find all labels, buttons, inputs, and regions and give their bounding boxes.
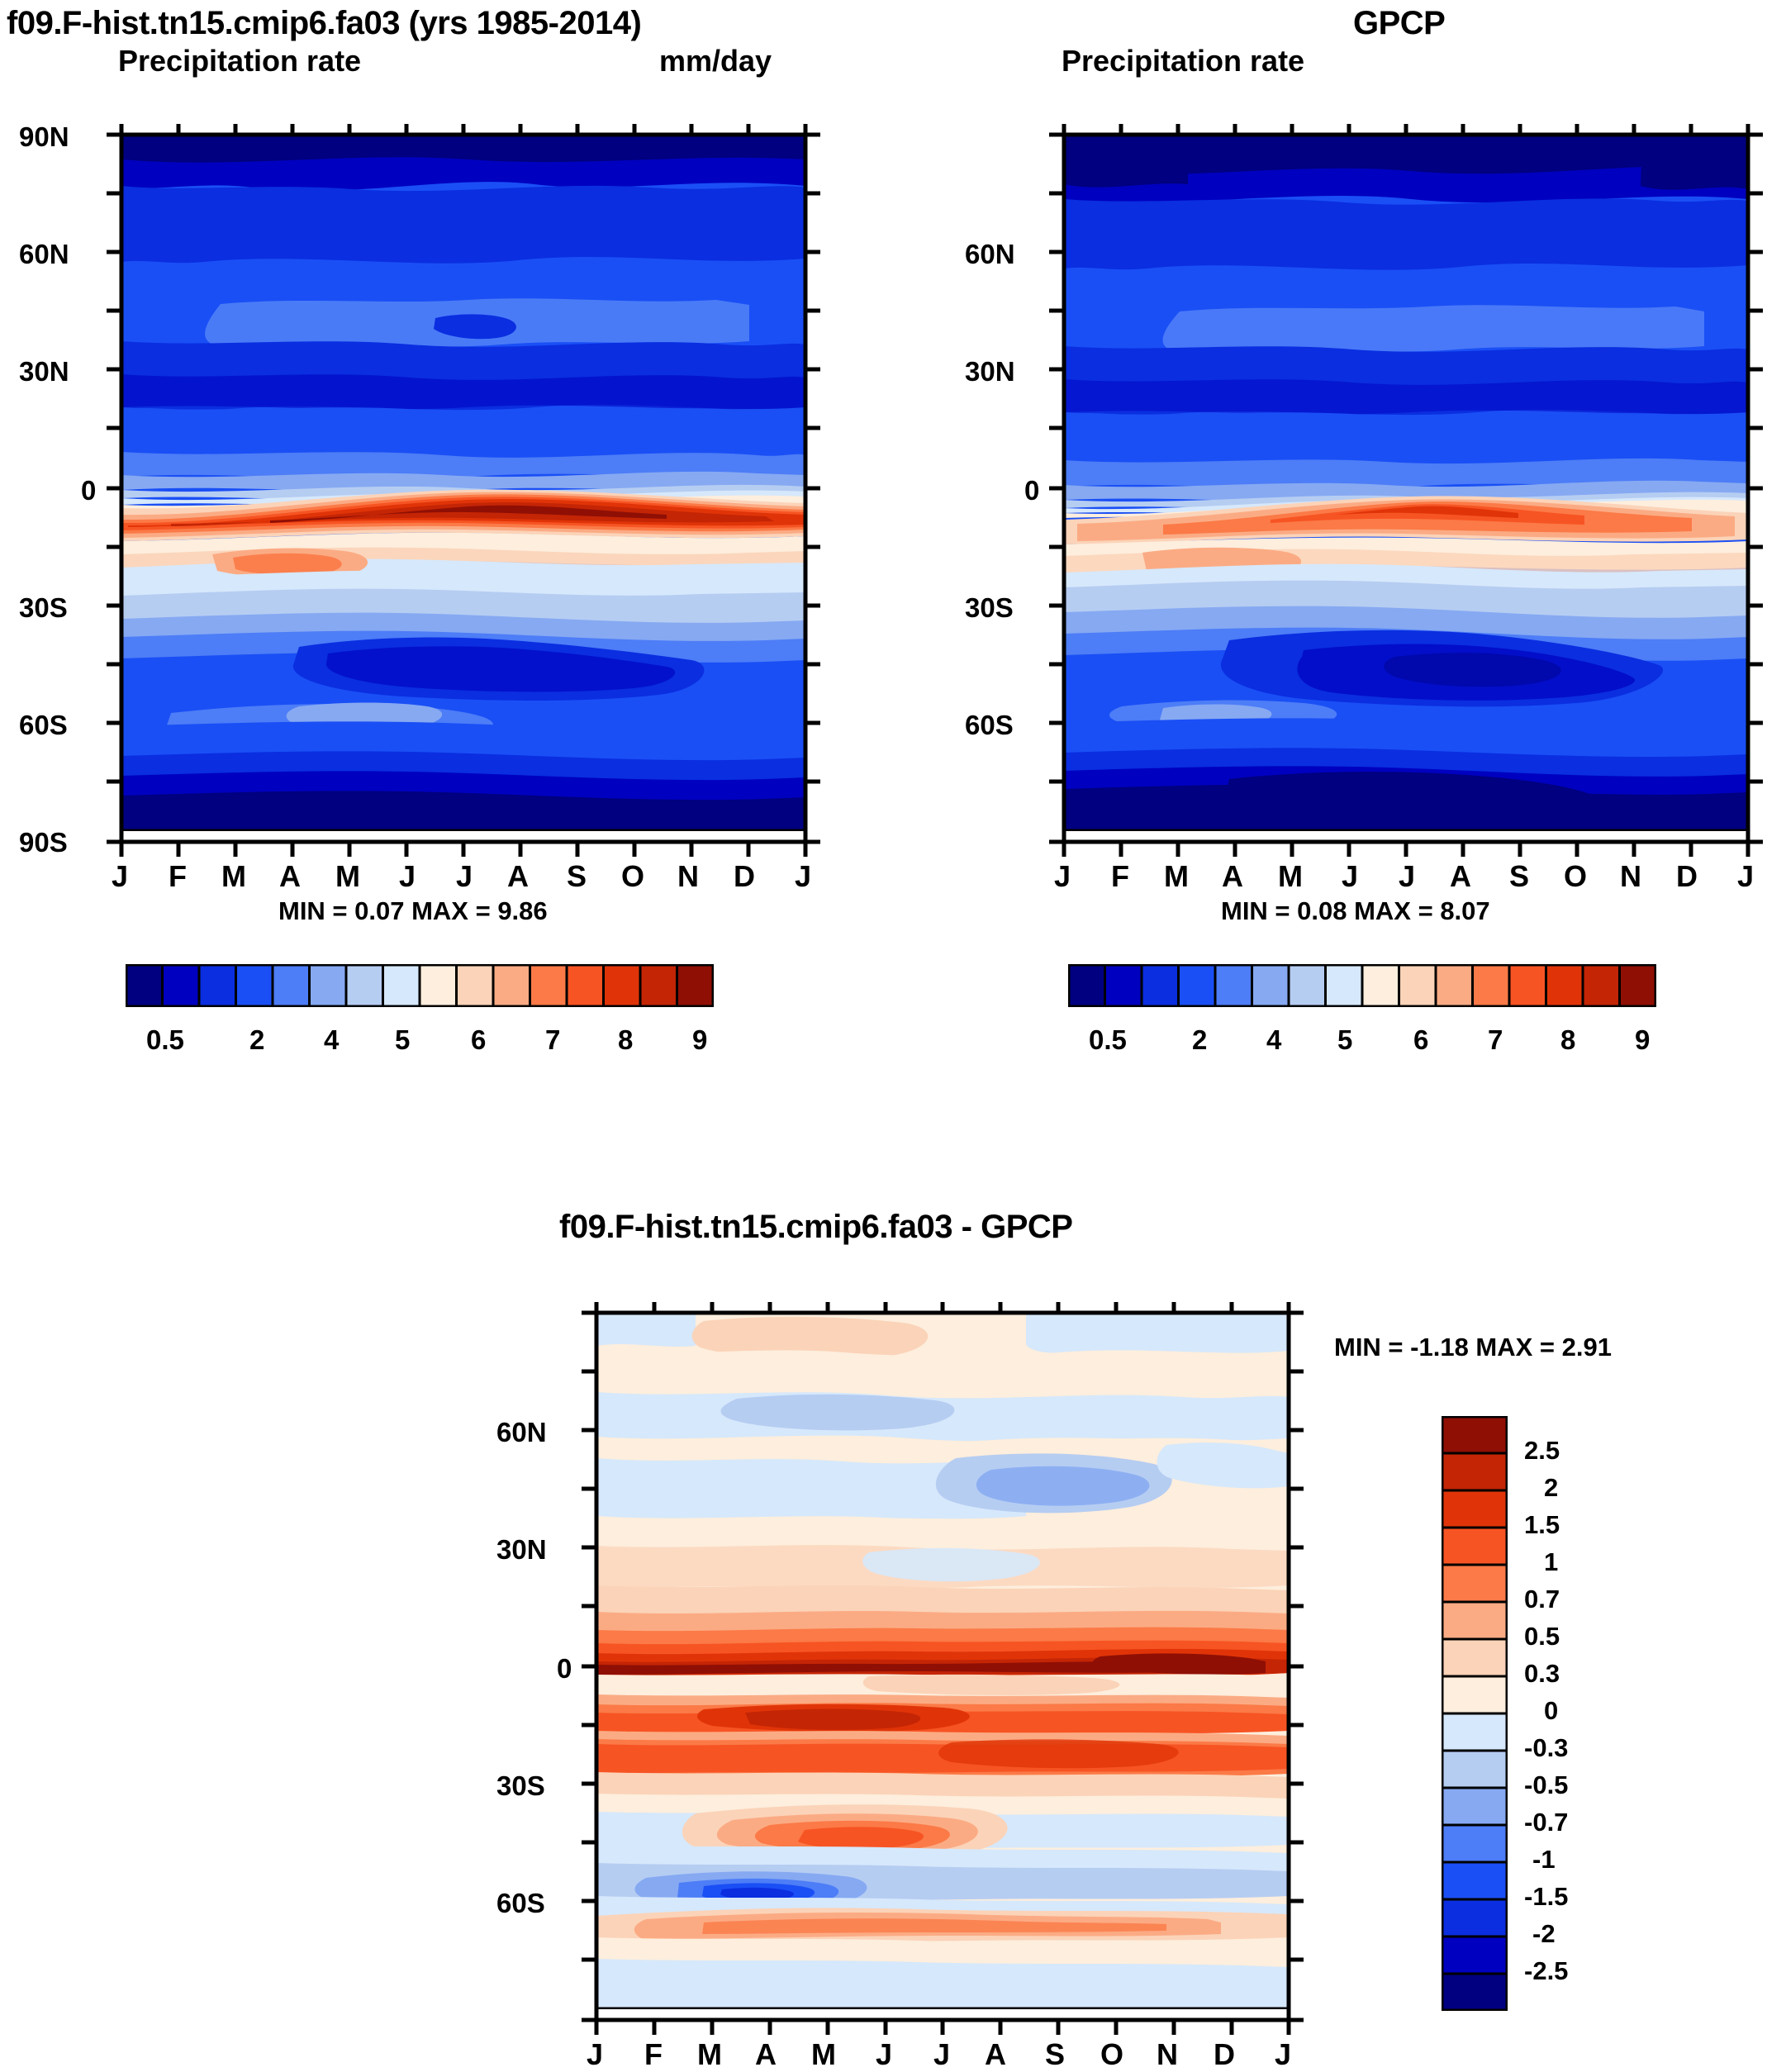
left-xtick-11: D bbox=[734, 859, 755, 894]
colorbar-cell bbox=[1362, 964, 1399, 1007]
left-xtick-0: J bbox=[112, 859, 128, 894]
left-xtick-1: F bbox=[169, 859, 187, 894]
diff-xtick-6: J bbox=[933, 2037, 950, 2072]
diff-cb-label-8: -0.3 bbox=[1524, 1733, 1568, 1763]
right-ytick-60n: 60N bbox=[965, 239, 1015, 270]
diff-panel-title: f09.F-hist.tn15.cmip6.fa03 - GPCP bbox=[559, 1209, 1072, 1246]
right-xtick-2: M bbox=[1164, 859, 1189, 894]
diff-xtick-10: N bbox=[1157, 2037, 1178, 2072]
colorbar-cell bbox=[1179, 964, 1216, 1007]
colorbar-cell bbox=[457, 964, 494, 1007]
diff-xtick-12: J bbox=[1275, 2037, 1291, 2072]
left-xtick-6: J bbox=[456, 859, 473, 894]
diff-xtick-2: M bbox=[697, 2037, 722, 2072]
right-cb-label-7: 9 bbox=[1635, 1024, 1650, 1056]
left-panel-axes bbox=[83, 124, 851, 859]
right-xtick-7: A bbox=[1450, 859, 1471, 894]
colorbar-cell bbox=[1509, 964, 1546, 1007]
colorbar-cell bbox=[126, 964, 163, 1007]
right-xtick-6: J bbox=[1399, 859, 1415, 894]
right-xtick-0: J bbox=[1054, 859, 1071, 894]
left-xtick-2: M bbox=[221, 859, 246, 894]
left-xtick-5: J bbox=[399, 859, 416, 894]
colorbar-cell bbox=[163, 964, 200, 1007]
colorbar-cell bbox=[1068, 964, 1105, 1007]
colorbar-cell bbox=[1620, 964, 1657, 1007]
right-panel-minmax: MIN = 0.08 MAX = 8.07 bbox=[1221, 896, 1490, 926]
diff-cb-label-3: 1 bbox=[1544, 1547, 1558, 1577]
colorbar-cell bbox=[1289, 964, 1326, 1007]
right-cb-label-6: 8 bbox=[1560, 1024, 1575, 1056]
left-ytick-30s: 30S bbox=[19, 592, 68, 624]
colorbar-cell bbox=[1442, 1416, 1508, 1453]
colorbar-cell bbox=[1442, 1751, 1508, 1788]
left-panel-title: f09.F-hist.tn15.cmip6.fa03 (yrs 1985-201… bbox=[7, 5, 641, 42]
colorbar-cell bbox=[1442, 1453, 1508, 1490]
left-cb-label-7: 9 bbox=[692, 1024, 707, 1056]
colorbar-cell bbox=[530, 964, 568, 1007]
left-colorbar-svg bbox=[126, 964, 714, 1007]
diff-ytick-30s: 30S bbox=[496, 1770, 545, 1802]
colorbar-cell bbox=[1583, 964, 1620, 1007]
colorbar-cell bbox=[1399, 964, 1437, 1007]
colorbar-cell bbox=[1442, 1565, 1508, 1602]
right-xtick-10: N bbox=[1620, 859, 1641, 894]
right-ytick-60s: 60S bbox=[965, 710, 1014, 741]
diff-xtick-1: F bbox=[644, 2037, 663, 2072]
diff-colorbar[interactable] bbox=[1442, 1416, 1508, 2011]
diff-xtick-9: O bbox=[1100, 2037, 1123, 2072]
colorbar-cell bbox=[199, 964, 236, 1007]
right-panel-subtitle: Precipitation rate bbox=[1062, 44, 1304, 78]
colorbar-cell bbox=[493, 964, 530, 1007]
left-cb-label-0: 0.5 bbox=[146, 1024, 184, 1056]
diff-cb-label-13: -2 bbox=[1532, 1919, 1556, 1949]
left-ytick-90s: 90S bbox=[19, 827, 68, 858]
left-ytick-30n: 30N bbox=[19, 356, 69, 387]
colorbar-cell bbox=[236, 964, 273, 1007]
colorbar-cell bbox=[1442, 1862, 1508, 1899]
diff-cb-label-6: 0.3 bbox=[1524, 1659, 1560, 1689]
right-cb-label-0: 0.5 bbox=[1089, 1024, 1127, 1056]
diff-cb-label-9: -0.5 bbox=[1524, 1770, 1568, 1800]
right-ytick-0: 0 bbox=[1024, 475, 1039, 506]
right-cb-label-4: 6 bbox=[1413, 1024, 1428, 1056]
colorbar-cell bbox=[1442, 1676, 1508, 1713]
colorbar-cell bbox=[1442, 1788, 1508, 1825]
colorbar-cell bbox=[1436, 964, 1473, 1007]
right-ytick-30n: 30N bbox=[965, 356, 1015, 387]
left-cb-label-1: 2 bbox=[249, 1024, 264, 1056]
left-ytick-0: 0 bbox=[81, 475, 96, 506]
left-cb-label-6: 8 bbox=[618, 1024, 633, 1056]
left-panel-units: mm/day bbox=[659, 44, 772, 78]
right-xtick-8: S bbox=[1509, 859, 1529, 894]
diff-ytick-0: 0 bbox=[557, 1653, 572, 1685]
colorbar-cell bbox=[1442, 1602, 1508, 1639]
diff-cb-label-10: -0.7 bbox=[1524, 1808, 1568, 1837]
right-colorbar[interactable] bbox=[1068, 964, 1656, 1007]
diff-xtick-5: J bbox=[876, 2037, 892, 2072]
colorbar-cell bbox=[640, 964, 677, 1007]
right-cb-label-5: 7 bbox=[1488, 1024, 1503, 1056]
left-cb-label-3: 5 bbox=[395, 1024, 410, 1056]
diff-cb-label-0: 2.5 bbox=[1524, 1436, 1560, 1466]
diff-colorbar-svg bbox=[1442, 1416, 1508, 2011]
colorbar-cell bbox=[346, 964, 383, 1007]
diff-xtick-11: D bbox=[1214, 2037, 1235, 2072]
colorbar-cell bbox=[1252, 964, 1290, 1007]
diff-ytick-30n: 30N bbox=[496, 1534, 547, 1566]
right-xtick-5: J bbox=[1342, 859, 1358, 894]
right-xtick-11: D bbox=[1676, 859, 1698, 894]
left-ytick-90n: 90N bbox=[19, 121, 69, 153]
colorbar-cell bbox=[1105, 964, 1142, 1007]
left-panel-minmax: MIN = 0.07 MAX = 9.86 bbox=[278, 896, 548, 926]
right-xtick-1: F bbox=[1111, 859, 1129, 894]
left-cb-label-4: 6 bbox=[471, 1024, 486, 1056]
diff-xtick-4: M bbox=[811, 2037, 836, 2072]
right-panel-axes bbox=[1025, 124, 1767, 859]
diff-cb-label-11: -1 bbox=[1532, 1845, 1556, 1875]
colorbar-cell bbox=[383, 964, 420, 1007]
left-colorbar[interactable] bbox=[126, 964, 714, 1007]
colorbar-cell bbox=[1473, 964, 1510, 1007]
right-ytick-30s: 30S bbox=[965, 592, 1014, 624]
left-xtick-3: A bbox=[279, 859, 301, 894]
colorbar-cell bbox=[1442, 1937, 1508, 1974]
right-cb-label-2: 4 bbox=[1266, 1024, 1281, 1056]
colorbar-cell bbox=[1326, 964, 1363, 1007]
left-ytick-60n: 60N bbox=[19, 239, 69, 270]
colorbar-cell bbox=[1215, 964, 1252, 1007]
diff-cb-label-12: -1.5 bbox=[1524, 1882, 1568, 1912]
colorbar-cell bbox=[1442, 1825, 1508, 1862]
colorbar-cell bbox=[273, 964, 310, 1007]
colorbar-cell bbox=[1546, 964, 1584, 1007]
right-panel-title: GPCP bbox=[1353, 5, 1445, 42]
left-cb-label-2: 4 bbox=[324, 1024, 339, 1056]
left-cb-label-5: 7 bbox=[545, 1024, 560, 1056]
right-xtick-9: O bbox=[1564, 859, 1587, 894]
left-xtick-9: O bbox=[621, 859, 644, 894]
right-cb-label-3: 5 bbox=[1337, 1024, 1352, 1056]
colorbar-cell bbox=[1442, 1490, 1508, 1528]
diff-cb-label-1: 2 bbox=[1544, 1473, 1558, 1503]
right-colorbar-svg bbox=[1068, 964, 1656, 1007]
diff-xtick-7: A bbox=[985, 2037, 1006, 2072]
colorbar-cell bbox=[1442, 1639, 1508, 1676]
diff-panel-axes bbox=[558, 1302, 1338, 2037]
right-xtick-12: J bbox=[1737, 859, 1754, 894]
right-xtick-4: M bbox=[1278, 859, 1303, 894]
left-ytick-60s: 60S bbox=[19, 710, 68, 741]
diff-ytick-60s: 60S bbox=[496, 1888, 545, 1919]
colorbar-cell bbox=[677, 964, 715, 1007]
left-xtick-8: S bbox=[567, 859, 587, 894]
diff-cb-label-7: 0 bbox=[1544, 1696, 1558, 1726]
right-xtick-3: A bbox=[1222, 859, 1243, 894]
colorbar-cell bbox=[567, 964, 604, 1007]
colorbar-cell bbox=[1142, 964, 1179, 1007]
colorbar-cell bbox=[1442, 1974, 1508, 2011]
diff-ytick-60n: 60N bbox=[496, 1417, 547, 1448]
right-cb-label-1: 2 bbox=[1192, 1024, 1207, 1056]
diff-cb-label-14: -2.5 bbox=[1524, 1956, 1568, 1986]
colorbar-cell bbox=[1442, 1528, 1508, 1565]
diff-cb-label-5: 0.5 bbox=[1524, 1622, 1560, 1651]
left-xtick-10: N bbox=[677, 859, 699, 894]
diff-cb-label-2: 1.5 bbox=[1524, 1510, 1560, 1540]
left-xtick-7: A bbox=[507, 859, 529, 894]
diff-xtick-3: A bbox=[755, 2037, 777, 2072]
colorbar-cell bbox=[310, 964, 347, 1007]
colorbar-cell bbox=[1442, 1713, 1508, 1751]
left-xtick-12: J bbox=[795, 859, 811, 894]
colorbar-cell bbox=[604, 964, 641, 1007]
left-xtick-4: M bbox=[335, 859, 360, 894]
left-panel-subtitle: Precipitation rate bbox=[118, 44, 361, 78]
diff-panel-minmax: MIN = -1.18 MAX = 2.91 bbox=[1334, 1333, 1612, 1362]
colorbar-cell bbox=[1442, 1899, 1508, 1937]
diff-xtick-0: J bbox=[587, 2037, 603, 2072]
diff-cb-label-4: 0.7 bbox=[1524, 1585, 1560, 1614]
diff-xtick-8: S bbox=[1045, 2037, 1065, 2072]
colorbar-cell bbox=[420, 964, 457, 1007]
